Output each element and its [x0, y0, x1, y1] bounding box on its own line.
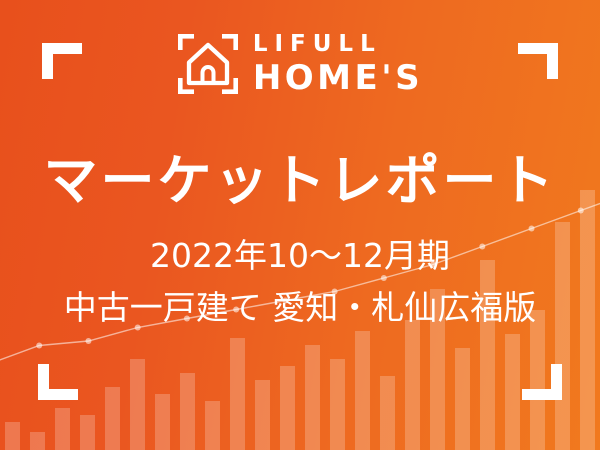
chart-bar: [255, 380, 271, 450]
chart-bar: [230, 338, 246, 450]
brand-homes-text: HOME'S: [253, 61, 423, 95]
chart-bar: [155, 394, 171, 450]
page-title: マーケットレポート: [0, 150, 600, 212]
corner-bracket-bottom-left: [38, 364, 78, 400]
chart-bar: [80, 415, 96, 450]
report-category: 中古一戸建て 愛知・札仙広福版: [0, 288, 600, 328]
market-report-poster: LIFULL HOME'S マーケットレポート 2022年10〜12月期 中古一…: [0, 0, 600, 450]
corner-bracket-bottom-right: [522, 364, 562, 400]
chart-bar: [380, 376, 396, 450]
chart-bar: [5, 422, 21, 450]
chart-bar: [130, 359, 146, 450]
chart-trend-point: [36, 343, 42, 349]
brand-logo: LIFULL HOME'S: [0, 33, 600, 95]
house-frame-icon: [177, 33, 239, 95]
chart-bar: [330, 359, 346, 450]
chart-bar: [280, 366, 296, 450]
chart-bar: [205, 401, 221, 450]
chart-bar: [305, 345, 321, 450]
chart-bar: [405, 320, 421, 450]
chart-bar: [355, 331, 371, 450]
chart-bar: [105, 387, 121, 450]
chart-bar: [55, 408, 71, 450]
chart-bar: [30, 432, 46, 450]
brand-lifull-text: LIFULL: [253, 33, 423, 56]
chart-bar: [180, 373, 196, 450]
brand-wordmark: LIFULL HOME'S: [253, 33, 423, 95]
chart-trend-point: [85, 338, 91, 344]
title-block: マーケットレポート 2022年10〜12月期 中古一戸建て 愛知・札仙広福版: [0, 150, 600, 327]
chart-bar: [505, 334, 521, 450]
chart-bar: [455, 348, 471, 450]
report-period: 2022年10〜12月期: [0, 236, 600, 276]
